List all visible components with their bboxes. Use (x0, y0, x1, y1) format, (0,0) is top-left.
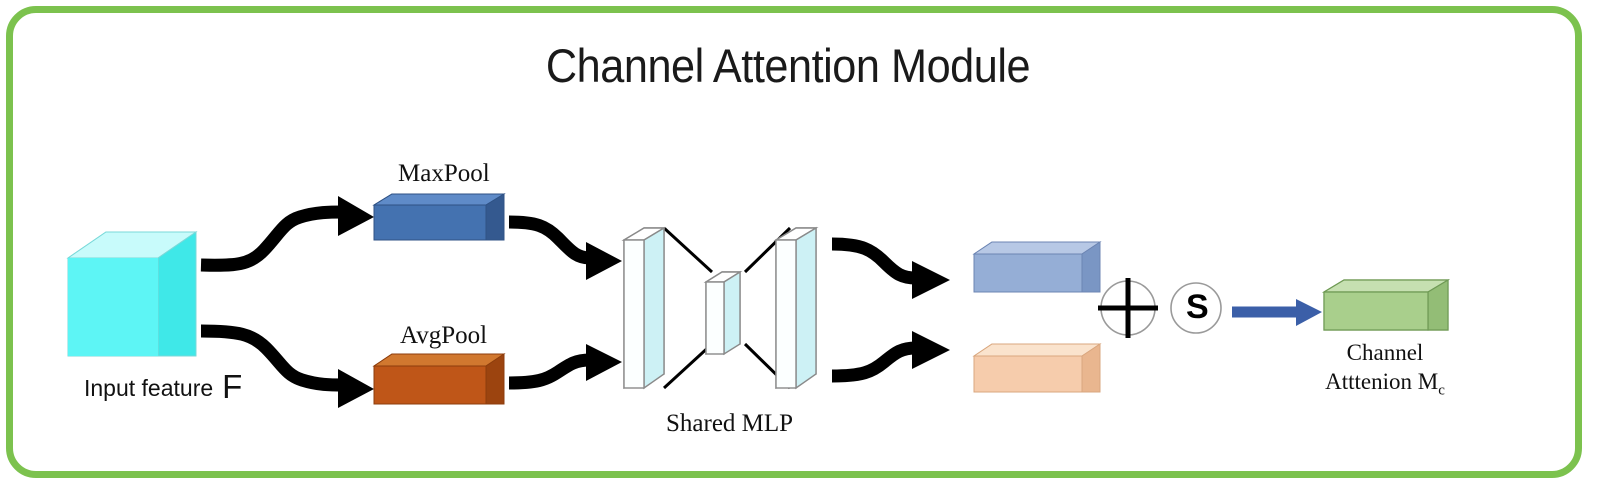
avgpool-label: AvgPool (400, 322, 487, 350)
input-feature-label: Input featureF (84, 368, 242, 406)
input-feature-symbol: F (213, 368, 242, 405)
sigmoid-symbol: S (1186, 288, 1209, 327)
shared-mlp-label: Shared MLP (666, 410, 793, 438)
maxpool-label: MaxPool (398, 160, 490, 188)
channel-attention-diagram: Channel Attention Module (0, 0, 1600, 496)
input-feature-text: Input feature (84, 375, 213, 401)
channel-attention-output-label: Channel Atttenion Mc (1300, 338, 1470, 401)
output-label-line2: Atttenion M (1325, 369, 1438, 394)
output-label-subscript: c (1438, 383, 1445, 399)
output-label-line1: Channel (1347, 340, 1424, 365)
figure-title: Channel Attention Module (63, 38, 1513, 93)
